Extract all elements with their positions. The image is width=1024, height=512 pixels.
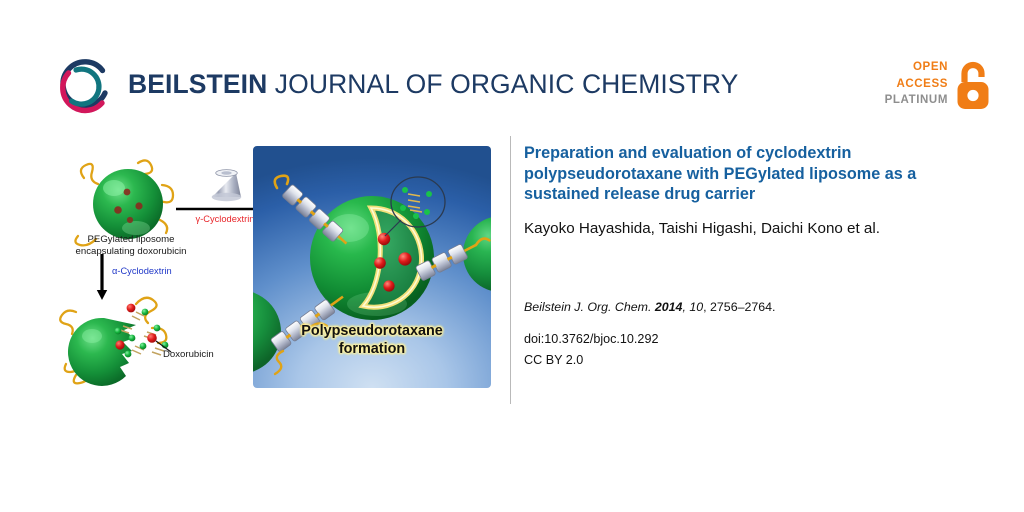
oa-line-access: ACCESS [885, 76, 948, 93]
alpha-reaction-arrow [97, 254, 107, 300]
open-access-badge: OPEN ACCESS PLATINUM [884, 58, 992, 120]
citation-pages: 2756–2764. [710, 300, 775, 314]
burst-liposome-group [60, 298, 171, 386]
label-alpha-cyclodextrin: α-Cyclodextrin [112, 266, 172, 276]
top-liposome-group [75, 160, 173, 245]
journal-wordmark: BEILSTEIN JOURNAL OF ORGANIC CHEMISTRY [128, 69, 738, 100]
column-divider [510, 136, 511, 404]
caption-pegylated-liposome: PEGylated liposome encapsulating doxorub… [42, 234, 220, 257]
wordmark-rest: JOURNAL OF ORGANIC CHEMISTRY [267, 69, 738, 99]
article-doi[interactable]: doi:10.3762/bjoc.10.292 [524, 332, 658, 346]
page-header: BEILSTEIN JOURNAL OF ORGANIC CHEMISTRY O… [0, 0, 1024, 132]
oa-line-open: OPEN [885, 59, 948, 76]
beilstein-spiral-logo-icon [55, 57, 117, 119]
article-citation: Beilstein J. Org. Chem. 2014, 10, 2756–2… [524, 300, 775, 314]
panel-artwork [253, 146, 491, 388]
article-metadata: Preparation and evaluation of cyclodextr… [524, 143, 954, 240]
article-title[interactable]: Preparation and evaluation of cyclodextr… [524, 143, 954, 205]
wordmark-brand: BEILSTEIN [128, 69, 267, 99]
article-authors: Kayoko Hayashida, Taishi Higashi, Daichi… [524, 218, 954, 240]
graphical-abstract: PEGylated liposome encapsulating doxorub… [40, 140, 495, 395]
oa-line-platinum: PLATINUM [885, 92, 948, 109]
open-lock-icon [954, 60, 992, 112]
citation-year: 2014 [655, 300, 683, 314]
label-doxorubicin: Doxorubicin [163, 349, 214, 360]
open-access-text: OPEN ACCESS PLATINUM [885, 59, 948, 109]
citation-journal: Beilstein J. Org. Chem. [524, 300, 651, 314]
main-illustration-panel: Polypseudorotaxane formation [253, 146, 491, 388]
article-license[interactable]: CC BY 2.0 [524, 353, 583, 367]
citation-volume: 10 [689, 300, 703, 314]
